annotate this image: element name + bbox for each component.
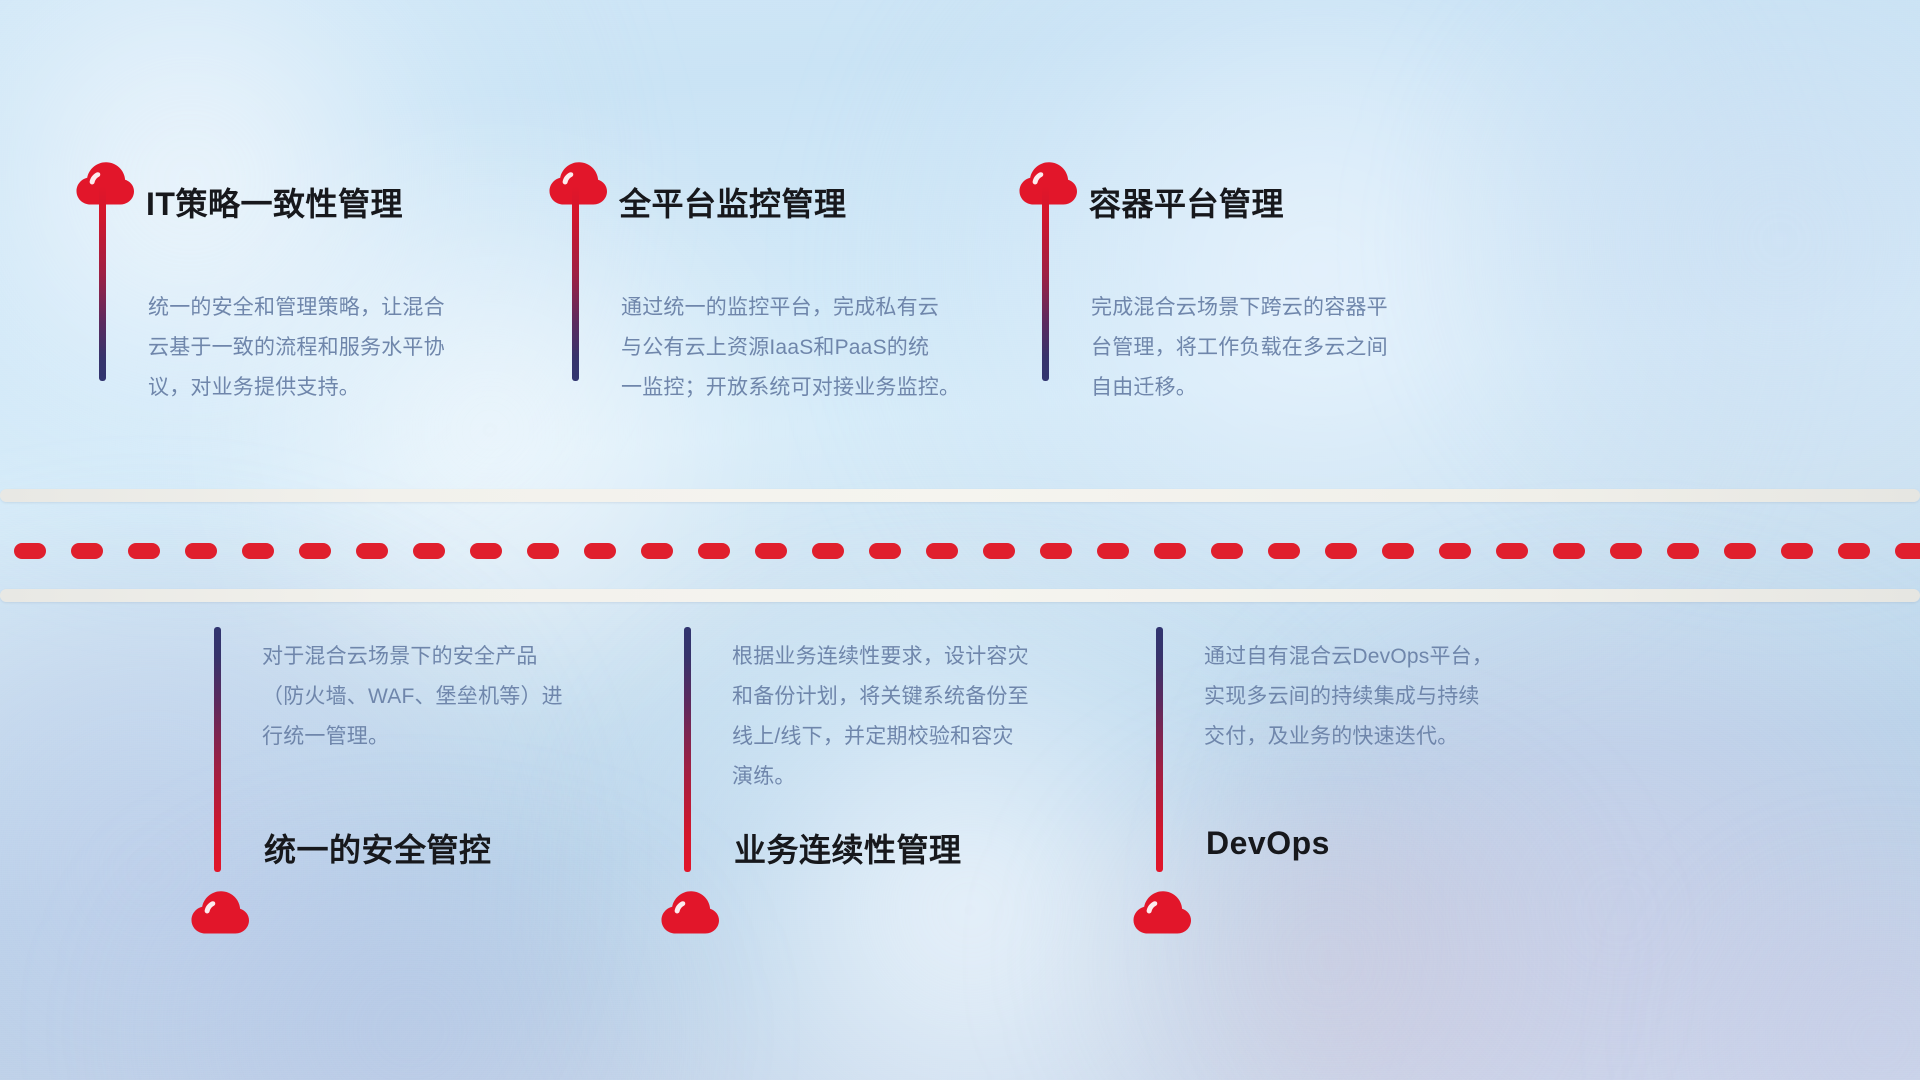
card-description: 完成混合云场景下跨云的容器平 台管理，将工作负载在多云之间 自由迁移。 (1091, 288, 1561, 408)
card-description: 统一的安全和管理策略，让混合 云基于一致的流程和服务水平协 议，对业务提供支持。 (148, 288, 618, 408)
road-dash (1097, 543, 1129, 559)
road-center-dashed-line (0, 543, 1920, 559)
desc-line: 根据业务连续性要求，设计容灾 (732, 637, 1202, 677)
card-title: 全平台监控管理 (619, 179, 847, 225)
cloud-icon (1133, 890, 1191, 934)
road-dash (698, 543, 730, 559)
desc-line: 演练。 (732, 757, 1202, 797)
connector-stem (572, 186, 579, 381)
road-dash (242, 543, 274, 559)
road-dash (1382, 543, 1414, 559)
card-description: 通过自有混合云DevOps平台， 实现多云间的持续集成与持续 交付，及业务的快速… (1204, 637, 1674, 757)
desc-line: 交付，及业务的快速迭代。 (1204, 717, 1674, 757)
road-band-lower (0, 589, 1920, 602)
road-dash (1553, 543, 1585, 559)
road-dash (1724, 543, 1756, 559)
desc-line: 一监控；开放系统可对接业务监控。 (621, 368, 1091, 408)
connector-stem (1156, 627, 1163, 872)
desc-line: 云基于一致的流程和服务水平协 (148, 328, 618, 368)
road-dash (1439, 543, 1471, 559)
desc-line: 线上/线下，并定期校验和容灾 (732, 717, 1202, 757)
road-dash (1667, 543, 1699, 559)
card-description: 根据业务连续性要求，设计容灾 和备份计划，将关键系统备份至 线上/线下，并定期校… (732, 637, 1202, 797)
road-dash (1211, 543, 1243, 559)
road-dash (356, 543, 388, 559)
connector-stem (1042, 186, 1049, 381)
desc-line: 行统一管理。 (262, 717, 732, 757)
cloud-icon (661, 890, 719, 934)
road-band-upper (0, 489, 1920, 502)
road-dash (755, 543, 787, 559)
desc-line: 完成混合云场景下跨云的容器平 (1091, 288, 1561, 328)
road-dash (1496, 543, 1528, 559)
road-dash (14, 543, 46, 559)
background-texture (0, 0, 1920, 1080)
desc-line: 通过统一的监控平台，完成私有云 (621, 288, 1091, 328)
desc-line: 和备份计划，将关键系统备份至 (732, 677, 1202, 717)
road-dash (1781, 543, 1813, 559)
desc-line: 对于混合云场景下的安全产品 (262, 637, 732, 677)
connector-stem (684, 627, 691, 872)
road-dash (299, 543, 331, 559)
connector-stem (214, 627, 221, 872)
road-dash (1838, 543, 1870, 559)
road-dash (812, 543, 844, 559)
connector-stem (99, 186, 106, 381)
card-title: 业务连续性管理 (734, 825, 962, 871)
cloud-icon (191, 890, 249, 934)
road-dash (185, 543, 217, 559)
road-dash (527, 543, 559, 559)
desc-line: 自由迁移。 (1091, 368, 1561, 408)
road-dash (584, 543, 616, 559)
infographic-canvas: IT策略一致性管理 统一的安全和管理策略，让混合 云基于一致的流程和服务水平协 … (0, 0, 1920, 1080)
card-title: 容器平台管理 (1089, 179, 1284, 225)
card-description: 通过统一的监控平台，完成私有云 与公有云上资源IaaS和PaaS的统 一监控；开… (621, 288, 1091, 408)
desc-line: 与公有云上资源IaaS和PaaS的统 (621, 328, 1091, 368)
road-dash (1325, 543, 1357, 559)
road-dash (641, 543, 673, 559)
road-dash (470, 543, 502, 559)
road-dash (1610, 543, 1642, 559)
road-dash (926, 543, 958, 559)
desc-line: 统一的安全和管理策略，让混合 (148, 288, 618, 328)
card-description: 对于混合云场景下的安全产品 （防火墙、WAF、堡垒机等）进 行统一管理。 (262, 637, 732, 757)
desc-line: 实现多云间的持续集成与持续 (1204, 677, 1674, 717)
desc-line: 通过自有混合云DevOps平台， (1204, 637, 1674, 677)
road-dash (128, 543, 160, 559)
desc-line: 台管理，将工作负载在多云之间 (1091, 328, 1561, 368)
desc-line: 议，对业务提供支持。 (148, 368, 618, 408)
road-dash (413, 543, 445, 559)
road-dash (1895, 543, 1920, 559)
road-dash (1040, 543, 1072, 559)
road-dash (983, 543, 1015, 559)
road-dash (71, 543, 103, 559)
road-dash (869, 543, 901, 559)
card-title: 统一的安全管控 (264, 825, 492, 871)
desc-line: （防火墙、WAF、堡垒机等）进 (262, 677, 732, 717)
card-title: IT策略一致性管理 (146, 179, 403, 225)
road-dash (1154, 543, 1186, 559)
card-title: DevOps (1206, 825, 1330, 862)
road-dash (1268, 543, 1300, 559)
